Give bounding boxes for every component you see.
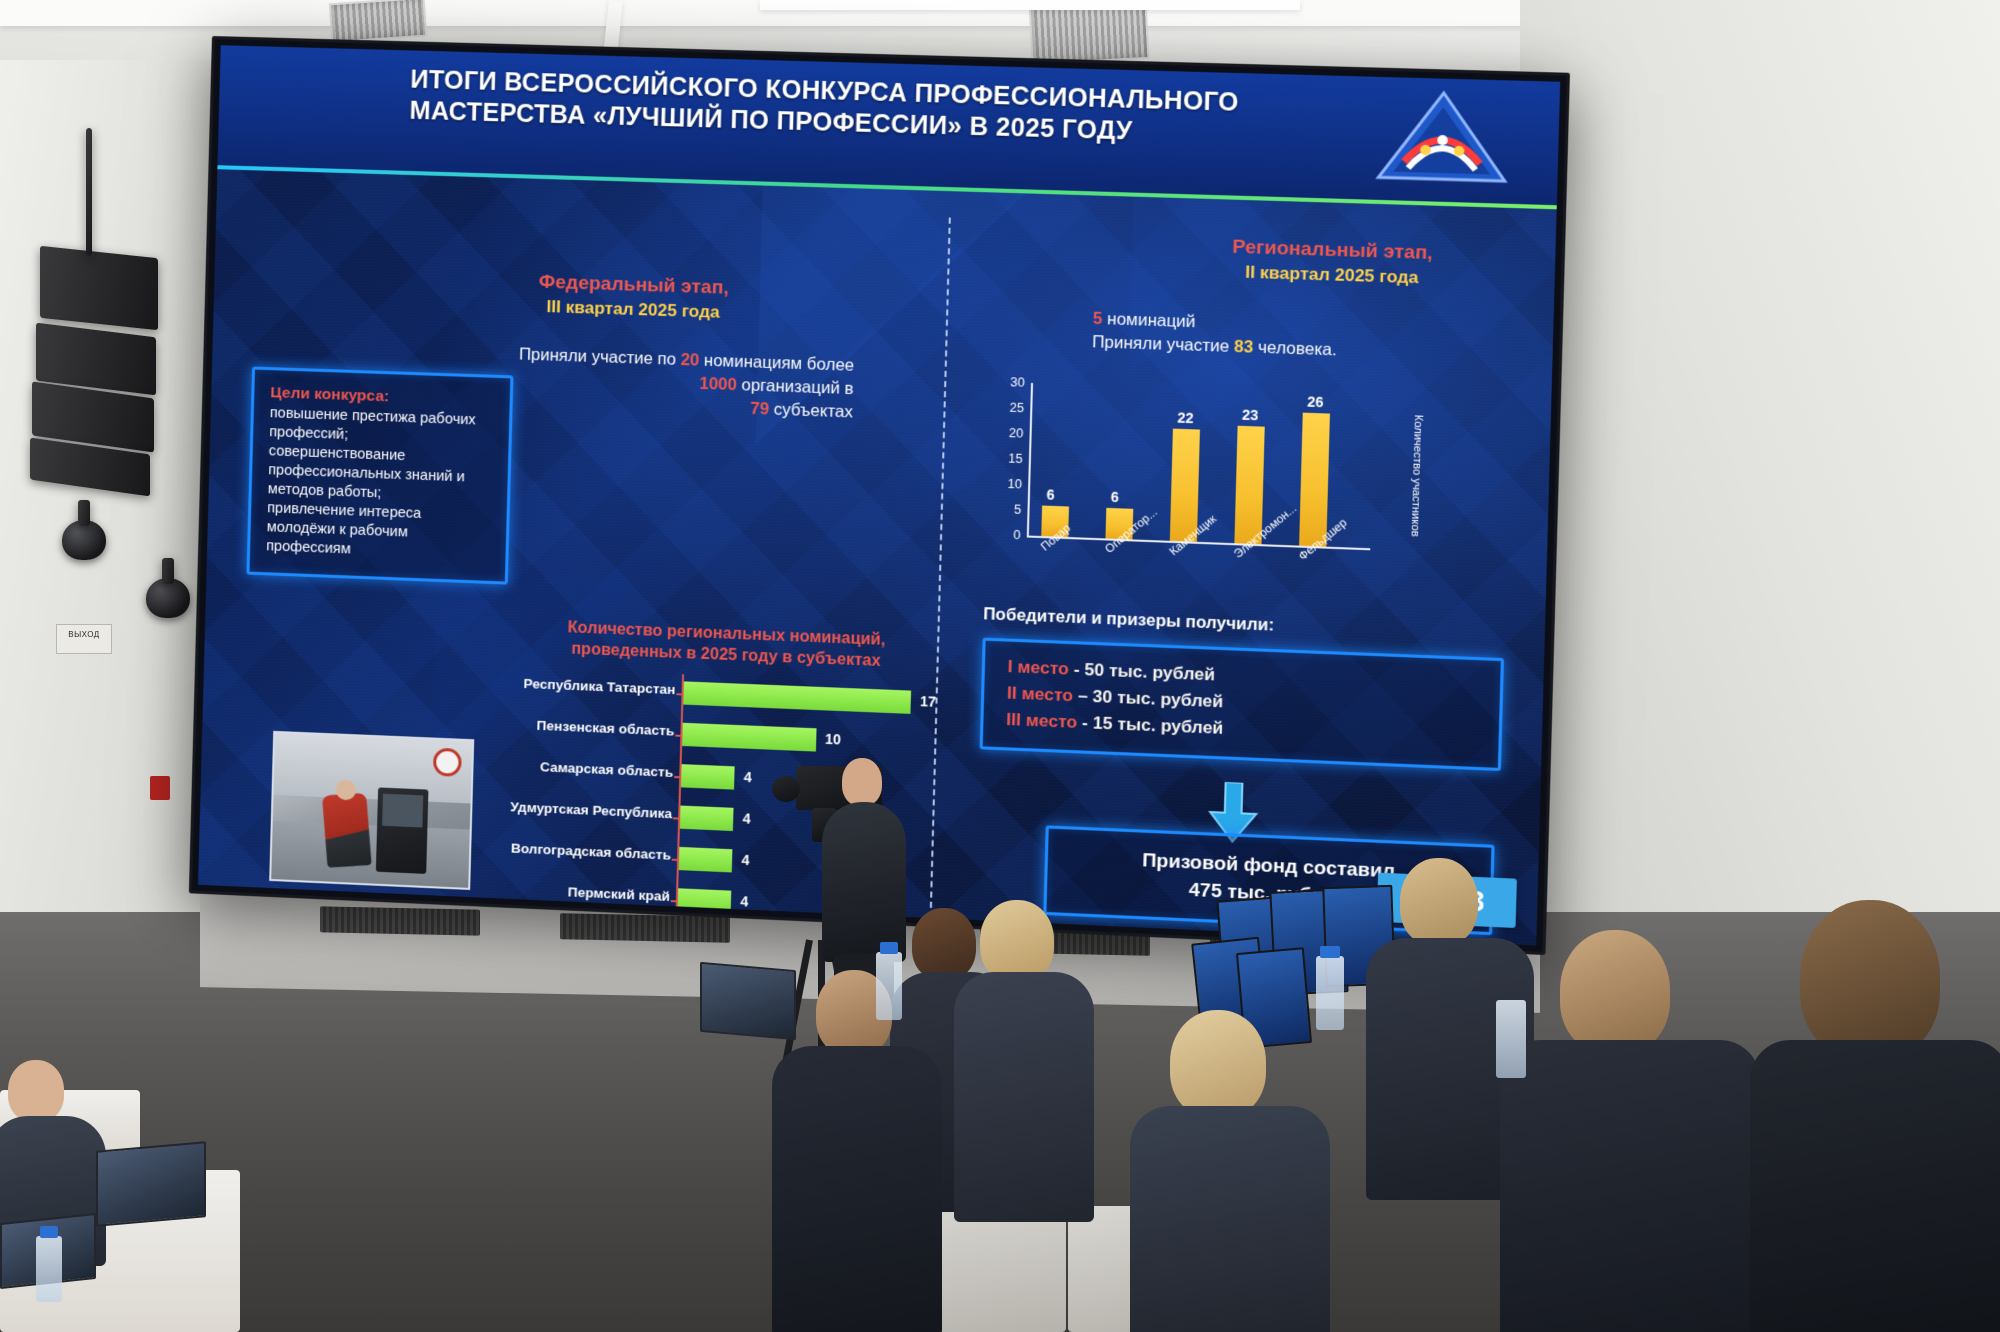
attendee-body	[1750, 1040, 2000, 1332]
prize-rank-1: II место	[1007, 683, 1074, 705]
vbar-ylabel: Количество участников	[1408, 414, 1424, 537]
vbar-column	[1299, 413, 1330, 547]
attendee-head	[1170, 1010, 1266, 1118]
vbar-ytick: 25	[993, 401, 1024, 415]
prize-amount-2: 15 тыс. рублей	[1093, 713, 1224, 738]
hbar-fill	[678, 888, 732, 914]
hbar-category-label: Удмуртская Республика	[489, 798, 672, 821]
exit-sign: ВЫХОД	[56, 624, 112, 654]
vbar-ytick: 0	[989, 528, 1020, 542]
attendee-body	[772, 1046, 942, 1332]
vbar-value-label: 23	[1242, 406, 1259, 423]
operator-head	[842, 758, 882, 806]
vbar-ytick: 30	[994, 376, 1025, 390]
prize-rank-2: III место	[1006, 710, 1078, 732]
photo-worker-body	[322, 793, 372, 868]
hbar-fill	[679, 847, 733, 873]
workshop-photo	[269, 731, 474, 890]
hbar-chart-title: Количество региональных номинаций, прове…	[532, 616, 921, 674]
federal-subjects-count: 79	[750, 400, 769, 419]
regional-participants-count: 83	[1234, 338, 1254, 357]
prize-rank-0: I место	[1007, 657, 1069, 679]
stage-vent-1	[320, 906, 480, 935]
federal-text-p2: номинациям более	[699, 351, 854, 374]
laptop-screen	[700, 962, 796, 1040]
goals-item-2: привлечение интереса молодёжи к рабочим …	[266, 499, 493, 565]
hbar-category-label: Республика Татарстан	[493, 675, 676, 698]
hbar-value-label: 10	[825, 731, 841, 748]
hbar-category-label: Самарская область	[491, 757, 674, 780]
prize-amount-0: 50 тыс. рублей	[1084, 660, 1215, 685]
vbar-ytick: 5	[990, 503, 1021, 517]
federal-nominations-count: 20	[680, 351, 699, 370]
attendee-right-2	[1520, 930, 1740, 1332]
photo-floor	[271, 821, 474, 888]
attendee-head	[8, 1060, 64, 1122]
fire-alarm	[150, 776, 170, 800]
attendee-head	[1560, 930, 1670, 1054]
vbar-value-label: 26	[1307, 393, 1324, 410]
bottle-cap-right	[1320, 946, 1340, 958]
regional-nominations-word: номинаций	[1107, 310, 1196, 331]
attendee-right-3	[1740, 900, 2000, 1332]
prizes-panel: I место - 50 тыс. рублей II место – 30 т…	[980, 638, 1504, 772]
attendee-right-4	[1130, 1010, 1320, 1332]
camera-lens	[772, 776, 800, 802]
vbar-value-label: 6	[1111, 489, 1120, 506]
hbar-value-label: 4	[742, 810, 750, 827]
federal-text-p4: субъектах	[769, 400, 853, 421]
ceiling-light-bar	[760, 0, 1300, 10]
speaker-hanger	[86, 128, 92, 256]
federal-stage-heading: Федеральный этап, III квартал 2025 года	[430, 268, 838, 327]
federal-organizations-count: 1000	[699, 375, 737, 394]
hbar-fill	[681, 764, 735, 789]
hbar-value-label: 17	[920, 693, 936, 710]
federal-text-p1: Приняли участие по	[519, 345, 681, 369]
hbar-category-label: Пермский край	[487, 881, 670, 904]
water-bottle-right-2	[1496, 1000, 1526, 1078]
regional-nominations-count: 5	[1093, 310, 1103, 329]
bottle-cap-left	[40, 1226, 58, 1238]
vbar-value-label: 6	[1046, 486, 1055, 503]
slide-header: ИТОГИ ВСЕРОССИЙСКОГО КОНКУРСА ПРОФЕССИОН…	[217, 45, 1560, 209]
vbar-ytick: 10	[991, 477, 1022, 491]
prize-sep-1: –	[1073, 686, 1093, 706]
water-bottle-right	[1316, 956, 1344, 1030]
prize-sep-0: -	[1069, 659, 1085, 679]
page-title: ИТОГИ ВСЕРОССИЙСКОГО КОНКУРСА ПРОФЕССИОН…	[409, 64, 1376, 154]
attendee-body	[954, 972, 1094, 1222]
competition-emblem-icon	[1372, 85, 1514, 187]
hbar-value-label: 4	[744, 769, 752, 786]
attendee-head	[980, 900, 1054, 982]
hbar-category-label: Пензенская область	[492, 716, 675, 739]
hbar-fill	[680, 806, 734, 832]
regional-summary-text: 5 номинаций Приняли участие 83 человека.	[1092, 308, 1533, 369]
regional-participants-prefix: Приняли участие	[1092, 333, 1234, 356]
wall-right	[1520, 0, 2000, 1000]
water-bottle-center	[876, 952, 902, 1020]
attendee-body	[1130, 1106, 1330, 1332]
vbar-value-label: 22	[1177, 409, 1194, 426]
photo-machine-screen	[382, 794, 423, 828]
vbar-columns: 6Повар6Оператор...22Каменщик23Электромон…	[983, 381, 1420, 396]
camera-mount-2	[162, 558, 174, 584]
prizes-lead-text: Победители и призеры получили:	[983, 605, 1526, 646]
attendee-body	[1500, 1040, 1760, 1332]
prize-amount-1: 30 тыс. рублей	[1092, 687, 1223, 712]
regional-stage-heading: Региональный этап, II квартал 2025 года	[1123, 233, 1543, 292]
regional-participants-suffix: человека.	[1253, 338, 1337, 359]
vbar-ytick: 15	[992, 452, 1023, 466]
water-bottle-left	[36, 1236, 62, 1302]
hbar-fill	[682, 723, 816, 752]
vbar-axis-y	[1027, 383, 1033, 536]
speaker-array-top	[40, 246, 158, 330]
right-column: Региональный этап, II квартал 2025 года …	[950, 206, 1560, 944]
ceiling-camera-2	[146, 578, 190, 618]
hbar-fill	[683, 681, 911, 714]
federal-text-p3: организаций в	[737, 376, 854, 398]
attendee-head	[1400, 858, 1478, 946]
camera-mount-1	[78, 500, 90, 526]
attendee-head	[1800, 900, 1940, 1060]
attendee-center-3	[780, 970, 930, 1330]
regional-participants-chart: 302520151050 6Повар6Оператор...22Каменщи…	[978, 381, 1421, 601]
conference-room: ВЫХОД ИТОГИ ВСЕРОССИЙСКОГО КОНКУРСА ПРОФ…	[0, 0, 2000, 1332]
ceiling-vent-3	[329, 0, 428, 43]
vbar-yticks: 302520151050	[983, 381, 1420, 396]
hbar-value-label: 4	[740, 893, 748, 910]
ceiling-camera-1	[62, 520, 106, 560]
stage-vent-2	[560, 913, 730, 943]
vbar-ytick: 20	[992, 426, 1023, 440]
hbar-value-label: 4	[741, 852, 749, 869]
prize-sep-2: -	[1077, 713, 1093, 733]
exit-sign-label: ВЫХОД	[68, 630, 99, 639]
bottle-cap-center	[880, 942, 898, 954]
attendee-center-2	[960, 900, 1090, 1210]
goals-panel: Цели конкурса: повышение престижа рабочи…	[246, 366, 513, 584]
goals-item-1: совершенствование профессиональных знани…	[267, 442, 494, 507]
laptop-screen	[96, 1141, 206, 1227]
hbar-category-label: Волгоградская область	[488, 839, 671, 862]
